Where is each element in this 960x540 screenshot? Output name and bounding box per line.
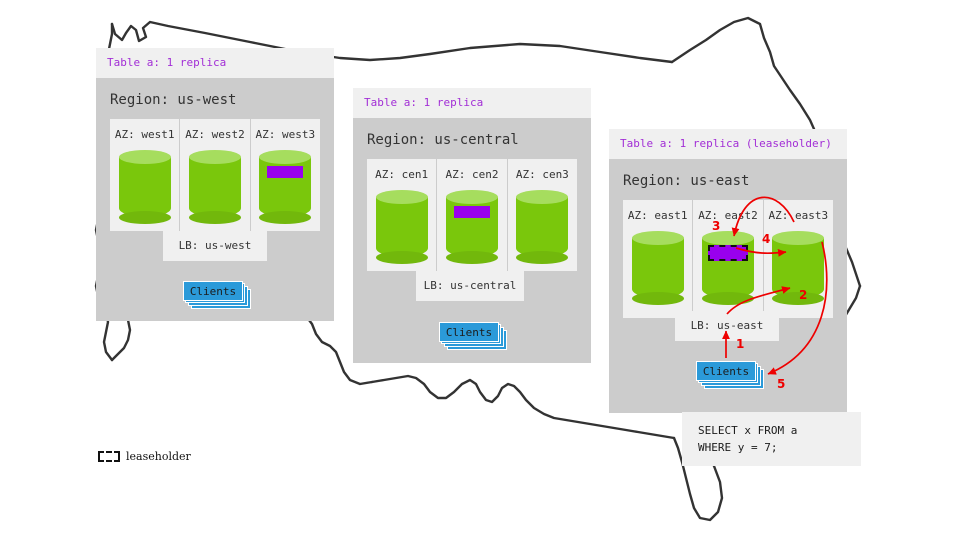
cylinder-body [189,157,241,217]
load-balancer-us-west[interactable]: LB: us-west [163,231,267,261]
step-number-3: 3 [712,219,720,233]
az-cell-cen1[interactable]: AZ: cen1 [367,159,436,271]
az-cell-west3[interactable]: AZ: west3 [250,119,320,231]
clients-label-us-central: Clients [446,326,492,339]
load-balancer-us-central[interactable]: LB: us-central [416,271,524,301]
cylinder-top [702,231,754,245]
region-label-us-east: Region: us-east [609,159,847,200]
az-label-cen1: AZ: cen1 [367,168,436,181]
node-cylinder-cen2[interactable] [446,190,498,264]
node-cylinder-west1[interactable] [119,150,171,224]
cylinder-top [446,190,498,204]
az-label-cen3: AZ: cen3 [508,168,577,181]
diagram-canvas: Table a: 1 replica Region: us-west AZ: w… [0,0,960,540]
az-cell-west1[interactable]: AZ: west1 [110,119,179,231]
clients-card-front[interactable]: Clients [183,281,243,301]
node-cylinder-cen1[interactable] [376,190,428,264]
node-cylinder-west2[interactable] [189,150,241,224]
sql-query-box: SELECT x FROM a WHERE y = 7; [682,412,861,466]
cylinder-body [376,197,428,257]
az-row-us-west: AZ: west1 AZ: west2 [110,119,320,231]
step-number-2: 2 [799,288,807,302]
replica-bar-cen2 [454,206,490,218]
clients-stack-us-central[interactable]: Clients [439,322,507,350]
region-label-us-west: Region: us-west [96,78,334,119]
az-label-west1: AZ: west1 [110,128,179,141]
replica-bar-leaseholder-east2 [708,245,748,261]
cylinder-body [119,157,171,217]
cylinder-top [772,231,824,245]
node-cylinder-cen3[interactable] [516,190,568,264]
clients-card-front[interactable]: Clients [696,361,756,381]
clients-label-us-west: Clients [190,285,236,298]
clients-stack-us-west[interactable]: Clients [183,281,251,309]
cylinder-bottom [259,211,311,224]
cylinder-bottom [119,211,171,224]
node-cylinder-west3[interactable] [259,150,311,224]
cylinder-top [119,150,171,164]
cylinder-top [632,231,684,245]
cylinder-body [516,197,568,257]
clients-stack-us-east[interactable]: Clients [696,361,764,389]
az-cell-cen2[interactable]: AZ: cen2 [436,159,506,271]
legend-label: leaseholder [126,450,191,463]
az-label-east1: AZ: east1 [623,209,692,222]
clients-card-front[interactable]: Clients [439,322,499,342]
load-balancer-us-east[interactable]: LB: us-east [675,311,779,341]
replica-bar-west3 [267,166,303,178]
node-cylinder-east2[interactable] [702,231,754,305]
cylinder-top [376,190,428,204]
cylinder-bottom [632,292,684,305]
table-replica-title-us-east: Table a: 1 replica (leaseholder) [609,129,847,159]
node-cylinder-east1[interactable] [632,231,684,305]
cylinder-bottom [446,251,498,264]
cylinder-top [189,150,241,164]
az-label-west3: AZ: west3 [251,128,320,141]
legend: leaseholder [98,450,191,463]
az-label-cen2: AZ: cen2 [437,168,506,181]
table-replica-title-us-west: Table a: 1 replica [96,48,334,78]
region-label-us-central: Region: us-central [353,118,591,159]
az-cell-west2[interactable]: AZ: west2 [179,119,249,231]
az-cell-east3[interactable]: AZ: east3 [763,200,833,318]
cylinder-bottom [516,251,568,264]
dashed-box-icon [98,451,120,462]
step-number-1: 1 [736,337,744,351]
cylinder-bottom [702,292,754,305]
step-number-4: 4 [762,232,770,246]
cylinder-bottom [376,251,428,264]
az-cell-cen3[interactable]: AZ: cen3 [507,159,577,271]
cylinder-body [632,238,684,298]
cylinder-top [516,190,568,204]
step-number-5: 5 [777,377,785,391]
az-cell-east1[interactable]: AZ: east1 [623,200,692,318]
az-cell-east2[interactable]: AZ: east2 [692,200,762,318]
clients-label-us-east: Clients [703,365,749,378]
table-replica-title-us-central: Table a: 1 replica [353,88,591,118]
az-label-east2: AZ: east2 [693,209,762,222]
az-row-us-central: AZ: cen1 AZ: cen2 [367,159,577,271]
az-label-west2: AZ: west2 [180,128,249,141]
cylinder-top [259,150,311,164]
az-label-east3: AZ: east3 [764,209,833,222]
cylinder-bottom [189,211,241,224]
